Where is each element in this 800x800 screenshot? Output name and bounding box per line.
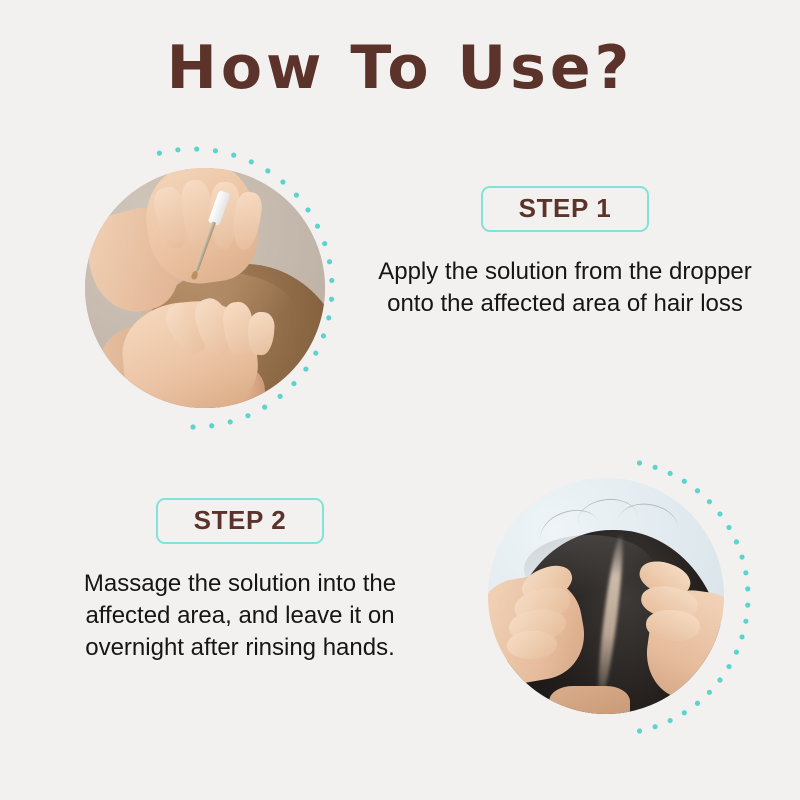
step-1-image (85, 168, 325, 408)
step-2-image (488, 478, 724, 714)
step-1-block: STEP 1 Apply the solution from the dropp… (355, 186, 775, 320)
step-1-description: Apply the solution from the dropper onto… (375, 256, 755, 319)
step-2-badge: STEP 2 (156, 498, 324, 544)
step-2-description: Massage the solution into the affected a… (50, 568, 430, 663)
step-1-badge: STEP 1 (481, 186, 649, 232)
step-2-block: STEP 2 Massage the solution into the aff… (30, 498, 450, 663)
page-title: How To Use? (0, 38, 800, 98)
infographic-page: How To Use? (0, 0, 800, 800)
